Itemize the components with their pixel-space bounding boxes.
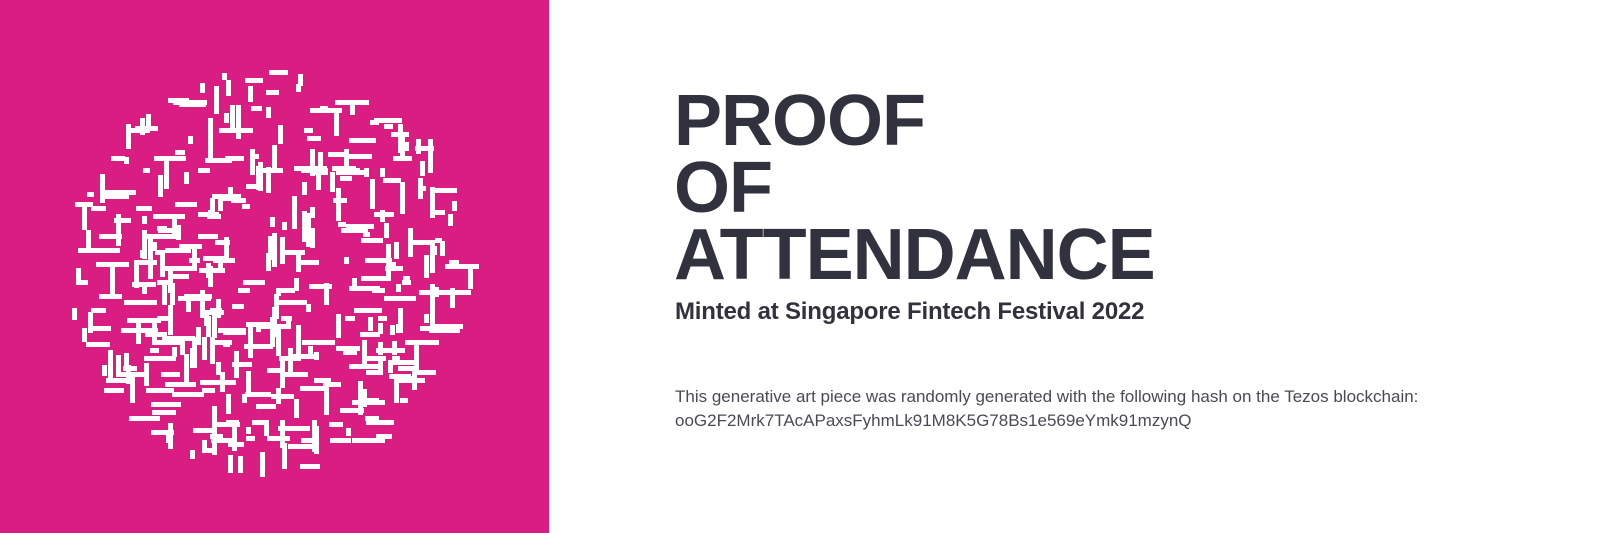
- artwork-stroke: [440, 241, 445, 256]
- artwork-stroke: [108, 350, 113, 379]
- artwork-stroke: [238, 288, 250, 293]
- artwork-stroke: [165, 248, 191, 253]
- artwork-stroke: [292, 196, 297, 229]
- artwork-stroke: [103, 262, 129, 267]
- artwork-stroke: [164, 156, 169, 189]
- artwork-stroke: [160, 251, 165, 277]
- artwork-stroke: [120, 372, 145, 377]
- artwork-stroke: [91, 308, 106, 313]
- artwork-stroke: [294, 399, 299, 418]
- artwork-stroke: [121, 328, 140, 333]
- artwork-stroke: [218, 197, 223, 211]
- artwork-stroke: [307, 136, 321, 141]
- artwork-stroke: [200, 380, 229, 385]
- artwork-stroke: [176, 225, 181, 240]
- artwork-stroke: [186, 300, 191, 312]
- artwork-stroke: [306, 304, 311, 312]
- artwork-stroke: [310, 207, 315, 218]
- artwork-stroke: [270, 217, 275, 227]
- artwork-stroke: [390, 325, 395, 335]
- mint-event-subtitle: Minted at Singapore Fintech Festival 202…: [675, 298, 1144, 326]
- artwork-stroke: [212, 406, 217, 439]
- artwork-stroke: [280, 361, 285, 388]
- artwork-stroke: [218, 328, 246, 333]
- artwork-stroke: [312, 420, 317, 452]
- artwork-stroke: [430, 187, 435, 218]
- artwork-stroke: [336, 346, 360, 351]
- artwork-stroke: [361, 276, 391, 281]
- artwork-stroke: [172, 392, 204, 397]
- artwork-stroke: [202, 448, 215, 453]
- artwork-stroke: [165, 382, 196, 387]
- artwork-stroke: [184, 294, 212, 299]
- artwork-stroke: [310, 228, 315, 248]
- artwork-stroke: [398, 366, 414, 371]
- artwork-stroke: [224, 113, 229, 123]
- artwork-stroke: [308, 346, 313, 354]
- artwork-stroke: [184, 172, 189, 184]
- artwork-stroke: [304, 128, 313, 133]
- artwork-stroke: [449, 260, 459, 265]
- artwork-stroke: [114, 218, 131, 223]
- artwork-stroke: [246, 427, 251, 434]
- artwork-stroke: [404, 142, 409, 151]
- artwork-stroke: [103, 194, 129, 199]
- artwork-stroke: [192, 337, 197, 368]
- artwork-stroke: [345, 316, 355, 321]
- artwork-stroke: [302, 182, 307, 195]
- artwork-stroke: [82, 328, 87, 340]
- artwork-stroke: [432, 188, 457, 193]
- artwork-stroke: [269, 70, 288, 75]
- artwork-stroke: [232, 425, 237, 451]
- artwork-stroke: [216, 422, 225, 427]
- artwork-stroke: [370, 179, 375, 209]
- artwork-stroke: [126, 124, 131, 149]
- artwork-stroke: [346, 428, 351, 436]
- artwork-stroke: [242, 394, 247, 403]
- artwork-stroke: [272, 145, 277, 172]
- artwork-stroke: [210, 337, 215, 364]
- artwork-stroke: [91, 206, 106, 211]
- artwork-stroke: [318, 152, 323, 168]
- artwork-stroke: [226, 394, 231, 414]
- artwork-stroke: [329, 422, 343, 427]
- artwork-stroke: [175, 150, 185, 155]
- artwork-stroke: [361, 238, 383, 243]
- artwork-stroke: [208, 118, 213, 150]
- artwork-stroke: [152, 410, 176, 415]
- artwork-stroke: [380, 168, 385, 177]
- artwork-stroke: [99, 234, 122, 239]
- artwork-stroke: [202, 337, 207, 360]
- artwork-stroke: [222, 73, 227, 80]
- artwork-stroke: [378, 316, 387, 321]
- artwork-stroke: [251, 106, 262, 111]
- artwork-stroke: [296, 325, 301, 352]
- artwork-stroke: [420, 326, 444, 331]
- artwork-stroke: [316, 174, 321, 190]
- artwork-stroke: [226, 420, 239, 425]
- artwork-stroke: [127, 128, 150, 133]
- artwork-stroke: [288, 444, 312, 449]
- artwork-stroke: [365, 258, 392, 263]
- artwork-stroke: [408, 228, 413, 237]
- artwork-stroke: [349, 138, 376, 143]
- artwork-stroke: [242, 204, 250, 209]
- artwork-stroke: [124, 353, 129, 368]
- artwork-stroke: [86, 230, 91, 251]
- artwork-stroke: [324, 283, 329, 305]
- artwork-stroke: [300, 386, 325, 391]
- artwork-stroke: [86, 342, 110, 347]
- artwork-stroke: [232, 304, 244, 309]
- artwork-stroke: [349, 364, 379, 369]
- artwork-stroke: [383, 178, 401, 183]
- artwork-stroke: [214, 86, 219, 114]
- artwork-stroke: [142, 286, 147, 294]
- artwork-stroke: [104, 388, 124, 393]
- artwork-stroke: [336, 170, 369, 175]
- artwork-stroke: [172, 347, 177, 357]
- artwork-stroke: [152, 318, 157, 343]
- artwork-stroke: [394, 378, 399, 403]
- page-title: PROOF OF ATTENDANCE: [674, 88, 1155, 289]
- artwork-stroke: [378, 342, 383, 355]
- artwork-stroke: [267, 368, 281, 373]
- artwork-stroke: [362, 389, 367, 407]
- artwork-stroke: [340, 176, 352, 181]
- artwork-stroke: [408, 236, 413, 257]
- artwork-stroke: [336, 188, 341, 221]
- artwork-stroke: [363, 232, 370, 237]
- artwork-stroke: [153, 214, 164, 219]
- artwork-stroke: [158, 175, 163, 197]
- artwork-stroke: [266, 107, 271, 118]
- artwork-stroke: [151, 430, 174, 435]
- generative-art-disc: [0, 0, 549, 533]
- artwork-stroke: [151, 402, 181, 407]
- artwork-stroke: [338, 222, 346, 227]
- artwork-stroke: [250, 149, 255, 175]
- artwork-stroke: [396, 284, 401, 292]
- artwork-stroke: [267, 436, 290, 441]
- artwork-stroke: [82, 205, 87, 216]
- artwork-stroke: [157, 316, 172, 321]
- artwork-stroke: [236, 105, 241, 139]
- artwork-stroke: [190, 450, 195, 459]
- artwork-stroke: [378, 359, 383, 373]
- artwork-stroke: [372, 288, 385, 293]
- artwork-stroke: [403, 276, 410, 281]
- artwork-stroke: [430, 284, 435, 305]
- artwork-stroke: [238, 456, 243, 473]
- artwork-stroke: [142, 234, 175, 239]
- artwork-stroke: [424, 314, 429, 323]
- artwork-stroke: [428, 139, 433, 173]
- artwork-stroke: [224, 237, 229, 259]
- artwork-stroke: [398, 124, 403, 153]
- artwork-stroke: [72, 308, 77, 320]
- artwork-stroke: [281, 316, 292, 321]
- artwork-stroke: [105, 248, 120, 253]
- artwork-stroke: [302, 211, 307, 242]
- artwork-stroke: [248, 86, 253, 102]
- artwork-stroke: [354, 308, 382, 313]
- artwork-stroke: [250, 154, 259, 159]
- artwork-stroke: [276, 388, 281, 404]
- artwork-stroke: [143, 168, 150, 173]
- artwork-stroke: [80, 280, 88, 285]
- artwork-stroke: [146, 388, 174, 393]
- artwork-stroke: [278, 125, 283, 144]
- artwork-stroke: [76, 268, 81, 285]
- artwork-stroke: [87, 192, 94, 197]
- artwork-stroke: [142, 216, 147, 224]
- artwork-stroke: [202, 440, 207, 448]
- artwork-stroke: [256, 325, 261, 332]
- certificate-card: PROOF OF ATTENDANCE Minted at Singapore …: [0, 0, 1600, 533]
- artwork-stroke: [435, 210, 445, 215]
- artwork-stroke: [448, 214, 453, 226]
- artwork-stroke: [278, 426, 310, 431]
- artwork-stroke: [212, 314, 217, 330]
- artwork-stroke: [140, 250, 145, 258]
- artwork-stroke: [400, 398, 408, 403]
- artwork-stroke: [394, 242, 399, 259]
- artwork-stroke: [330, 172, 335, 192]
- artwork-stroke: [300, 464, 320, 469]
- artwork-stroke: [368, 317, 373, 331]
- artwork-stroke: [246, 371, 251, 393]
- artwork-stroke: [226, 80, 231, 96]
- artwork-stroke: [248, 330, 253, 342]
- artwork-stroke: [256, 404, 276, 409]
- artwork-stroke: [256, 166, 261, 190]
- artwork-stroke: [204, 310, 209, 326]
- artwork-stroke: [396, 324, 401, 333]
- artwork-stroke: [420, 161, 425, 176]
- artwork-stroke: [188, 136, 193, 144]
- artwork-stroke: [282, 443, 287, 469]
- artwork-stroke: [350, 105, 355, 115]
- artwork-stroke: [260, 452, 265, 477]
- artwork-stroke: [376, 434, 392, 439]
- artwork-stroke: [173, 100, 207, 105]
- artwork-stroke: [391, 132, 409, 137]
- artwork-stroke: [374, 212, 394, 217]
- artwork-stroke: [310, 108, 342, 113]
- artwork-stroke: [111, 156, 125, 161]
- artwork-stroke: [202, 388, 215, 393]
- artwork-stroke: [78, 248, 106, 253]
- artwork-stroke: [243, 280, 265, 285]
- artwork-panel: [0, 0, 549, 533]
- artwork-stroke: [384, 223, 389, 238]
- artwork-stroke: [203, 256, 225, 261]
- artwork-stroke: [384, 296, 416, 301]
- artwork-stroke: [175, 202, 197, 207]
- artwork-stroke: [452, 201, 457, 211]
- artwork-stroke: [296, 84, 301, 92]
- artwork-stroke: [246, 436, 255, 441]
- artwork-stroke: [405, 340, 439, 345]
- artwork-stroke: [205, 158, 232, 163]
- artwork-stroke: [418, 178, 423, 199]
- text-panel: PROOF OF ATTENDANCE Minted at Singapore …: [549, 0, 1600, 533]
- artwork-stroke: [206, 263, 211, 278]
- artwork-stroke: [346, 224, 374, 229]
- artwork-stroke: [280, 250, 305, 255]
- artwork-stroke: [229, 380, 236, 385]
- artwork-stroke: [245, 78, 263, 83]
- artwork-stroke: [366, 420, 394, 425]
- artwork-stroke: [374, 118, 402, 123]
- artwork-stroke: [450, 288, 455, 308]
- artwork-stroke: [274, 300, 307, 305]
- artwork-stroke: [344, 257, 349, 264]
- artwork-stroke: [230, 105, 235, 131]
- artwork-stroke: [124, 157, 129, 164]
- artwork-stroke: [200, 83, 205, 93]
- blockchain-hash: ooG2F2Mrk7TAcAPaxsFyhmLk91M8K5G78Bs1e569…: [675, 409, 1535, 433]
- artwork-stroke: [400, 182, 405, 214]
- artwork-stroke: [154, 156, 186, 161]
- artwork-stroke: [150, 348, 159, 353]
- artwork-stroke: [193, 428, 216, 433]
- artwork-stroke: [198, 168, 210, 173]
- artwork-stroke: [234, 351, 239, 378]
- artwork-stroke: [231, 198, 246, 203]
- artwork-stroke: [124, 300, 157, 305]
- artwork-stroke: [272, 307, 277, 337]
- artwork-stroke: [416, 139, 421, 154]
- artwork-stroke: [228, 455, 233, 473]
- description-text: This generative art piece was randomly g…: [675, 385, 1535, 409]
- artwork-stroke: [302, 340, 335, 345]
- artwork-stroke: [244, 344, 273, 349]
- artwork-stroke: [414, 342, 419, 374]
- artwork-stroke: [384, 124, 393, 129]
- artwork-stroke: [139, 260, 157, 265]
- artwork-stroke: [430, 240, 435, 273]
- artwork-stroke: [410, 378, 418, 383]
- artwork-stroke: [271, 394, 294, 399]
- artwork-stroke: [210, 198, 215, 215]
- artwork-stroke: [388, 360, 393, 373]
- artwork-stroke: [88, 312, 93, 333]
- artwork-stroke: [360, 332, 380, 337]
- artwork-stroke: [252, 420, 264, 425]
- artwork-stroke: [161, 372, 180, 377]
- artwork-stroke: [278, 288, 295, 293]
- artwork-stroke: [282, 222, 287, 230]
- artwork-stroke: [336, 314, 341, 338]
- artwork-stroke: [266, 90, 279, 95]
- artwork-stroke: [228, 187, 233, 194]
- artwork-stroke: [266, 253, 271, 271]
- artwork-stroke: [424, 255, 429, 278]
- artwork-stroke: [468, 268, 473, 289]
- artwork-stroke: [393, 156, 412, 161]
- artwork-stroke: [198, 234, 218, 239]
- artwork-stroke: [170, 283, 175, 305]
- artwork-stroke: [152, 242, 157, 251]
- artwork-stroke: [297, 260, 319, 265]
- artwork-stroke: [314, 352, 319, 360]
- artwork-stroke: [264, 420, 269, 436]
- artwork-stroke: [136, 206, 152, 211]
- artwork-stroke: [129, 416, 160, 421]
- artwork-stroke: [102, 365, 107, 376]
- artwork-stroke: [213, 340, 232, 345]
- artwork-stroke: [366, 398, 379, 403]
- artwork-stroke: [290, 354, 318, 359]
- artwork-stroke: [352, 278, 357, 287]
- artwork-stroke: [144, 356, 176, 361]
- description-block: This generative art piece was randomly g…: [675, 385, 1535, 433]
- artwork-stroke: [362, 340, 367, 364]
- artwork-stroke: [184, 354, 189, 382]
- artwork-stroke: [110, 262, 115, 295]
- artwork-stroke: [335, 100, 369, 105]
- artwork-stroke: [330, 438, 351, 443]
- artwork-stroke: [168, 274, 189, 279]
- artwork-stroke: [344, 154, 372, 159]
- artwork-stroke: [288, 348, 293, 376]
- artwork-stroke: [189, 258, 200, 263]
- artwork-stroke: [334, 109, 339, 136]
- artwork-stroke: [340, 408, 364, 413]
- artwork-stroke: [314, 378, 331, 383]
- artwork-stroke: [96, 262, 104, 267]
- artwork-stroke: [435, 238, 442, 243]
